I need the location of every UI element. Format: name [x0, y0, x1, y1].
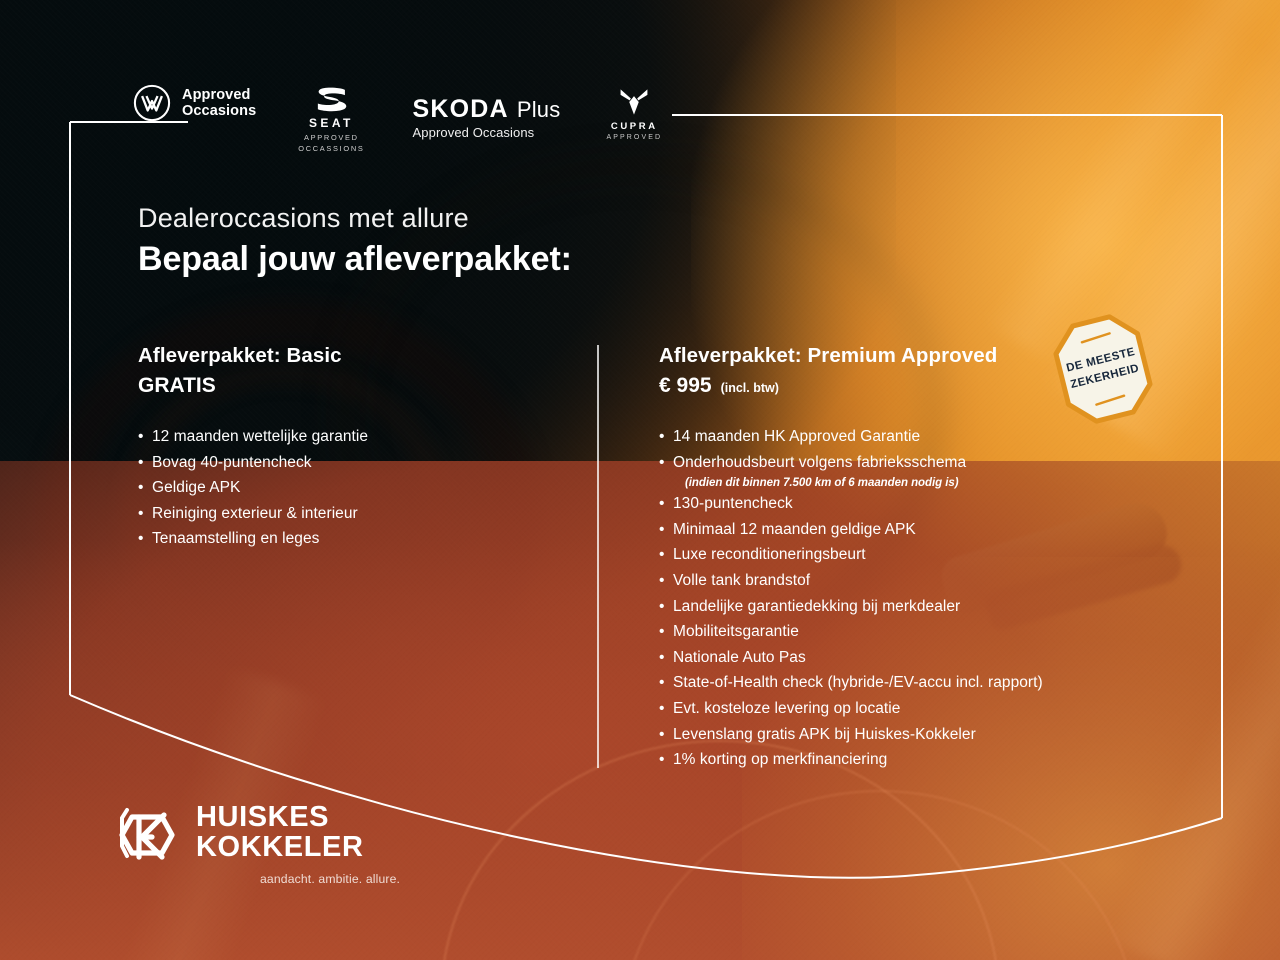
feature-text: 14 maanden HK Approved Garantie: [673, 428, 920, 445]
skoda-logo-plus: Plus: [517, 97, 561, 123]
feature-text: Luxe reconditioneringsbeurt: [673, 546, 866, 563]
bullet-icon: •: [659, 619, 664, 645]
cupra-logo-icon: [618, 87, 650, 117]
feature-text: Levenslang gratis APK bij Huiskes-Kokkel…: [673, 726, 976, 743]
bullet-icon: •: [659, 517, 664, 543]
hk-hexagon-monogram-icon: [112, 800, 176, 870]
dealer-logo: HUISKES KOKKELER aandacht. ambitie. allu…: [112, 800, 400, 886]
feature-text: Onderhoudsbeurt volgens fabrieksschema: [673, 454, 966, 471]
feature-text: Mobiliteitsgarantie: [673, 623, 799, 640]
vw-logo-icon: [133, 84, 171, 122]
feature-text: Evt. kosteloze levering op locatie: [673, 700, 900, 717]
bullet-icon: •: [659, 542, 664, 568]
feature-text: Bovag 40-puntencheck: [152, 454, 312, 471]
vw-logo-text: Approved Occasions: [182, 87, 256, 119]
bullet-icon: •: [138, 475, 143, 501]
skoda-logo-top: SKODA Plus: [413, 95, 561, 124]
list-item: •Landelijke garantiedekking bij merkdeal…: [659, 594, 1159, 620]
bullet-icon: •: [138, 450, 143, 476]
package-feature-list-premium: •14 maanden HK Approved Garantie •Onderh…: [659, 424, 1159, 773]
list-item: •State-of-Health check (hybride-/EV-accu…: [659, 670, 1159, 696]
seat-logo-word: SEAT: [309, 116, 354, 130]
bullet-icon: •: [659, 594, 664, 620]
dealer-name-line2: KOKKELER: [196, 833, 400, 863]
list-item: •Minimaal 12 maanden geldige APK: [659, 517, 1159, 543]
bullet-icon: •: [659, 645, 664, 671]
feature-text: State-of-Health check (hybride-/EV-accu …: [673, 674, 1043, 691]
bullet-icon: •: [659, 696, 664, 722]
feature-text: Geldige APK: [152, 479, 240, 496]
bullet-icon: •: [138, 424, 143, 450]
package-feature-list-basic: •12 maanden wettelijke garantie •Bovag 4…: [138, 424, 568, 552]
feature-text: Volle tank brandstof: [673, 572, 810, 589]
feature-text: Minimaal 12 maanden geldige APK: [673, 521, 916, 538]
page-title: Bepaal jouw afleverpakket:: [138, 240, 572, 279]
feature-text: 1% korting op merkfinanciering: [673, 751, 887, 768]
vw-logo-line1: Approved: [182, 87, 256, 103]
list-item: •Levenslang gratis APK bij Huiskes-Kokke…: [659, 722, 1159, 748]
package-price-note-premium: (incl. btw): [721, 381, 779, 395]
list-item: •Geldige APK: [138, 475, 568, 501]
package-price-value-premium: € 995: [659, 374, 712, 398]
package-title-basic: Afleverpakket: Basic: [138, 344, 568, 368]
logo-seat-approved-occassions: SEAT APPROVED OCCASSIONS: [298, 84, 364, 154]
bullet-icon: •: [659, 450, 664, 476]
list-item: •130-puntencheck: [659, 491, 1159, 517]
bullet-icon: •: [659, 568, 664, 594]
bullet-icon: •: [659, 670, 664, 696]
logo-skoda-plus-approved-occasions: SKODA Plus Approved Occasions: [413, 84, 561, 140]
feature-text: 12 maanden wettelijke garantie: [152, 428, 368, 445]
seat-logo-sub1: APPROVED: [298, 133, 364, 144]
package-card-basic: Afleverpakket: Basic GRATIS •12 maanden …: [138, 344, 568, 552]
bullet-icon: •: [659, 722, 664, 748]
list-item: •Luxe reconditioneringsbeurt: [659, 542, 1159, 568]
seat-logo-icon: [314, 86, 348, 113]
feature-text: Tenaamstelling en leges: [152, 530, 319, 547]
cupra-logo-sub: APPROVED: [606, 134, 662, 141]
feature-text: Reiniging exterieur & interieur: [152, 505, 358, 522]
list-item: •12 maanden wettelijke garantie: [138, 424, 568, 450]
seat-logo-sub: APPROVED OCCASSIONS: [298, 133, 364, 154]
vw-logo-line2: Occasions: [182, 103, 256, 119]
bullet-icon: •: [659, 747, 664, 773]
dealer-name-line1: HUISKES: [196, 803, 400, 833]
feature-text: Landelijke garantiedekking bij merkdeale…: [673, 598, 960, 615]
feature-note: (indien dit binnen 7.500 km of 6 maanden…: [673, 475, 1159, 491]
seat-logo-sub2: OCCASSIONS: [298, 144, 364, 155]
package-price-basic: GRATIS: [138, 374, 568, 398]
list-item: •Onderhoudsbeurt volgens fabrieksschema(…: [659, 450, 1159, 492]
status-badge-most-certainty: DE MEESTE ZEKERHEID: [1048, 312, 1158, 426]
list-item: •Tenaamstelling en leges: [138, 526, 568, 552]
list-item: •Mobiliteitsgarantie: [659, 619, 1159, 645]
brand-logo-row: Approved Occasions SEAT APPROVED OCCASSI…: [133, 84, 662, 160]
skoda-logo-word: SKODA: [413, 95, 509, 124]
list-item: •Nationale Auto Pas: [659, 645, 1159, 671]
list-item: •Bovag 40-puntencheck: [138, 450, 568, 476]
bullet-icon: •: [138, 526, 143, 552]
list-item: •Evt. kosteloze levering op locatie: [659, 696, 1159, 722]
logo-cupra-approved: CUPRA APPROVED: [606, 84, 662, 141]
bullet-icon: •: [138, 501, 143, 527]
kicker-text: Dealeroccasions met allure: [138, 203, 469, 234]
dealer-logo-text: HUISKES KOKKELER aandacht. ambitie. allu…: [196, 800, 400, 886]
cupra-logo-word: CUPRA: [611, 121, 658, 132]
list-item: •1% korting op merkfinanciering: [659, 747, 1159, 773]
dealer-tagline: aandacht. ambitie. allure.: [260, 872, 400, 886]
package-price-value-basic: GRATIS: [138, 374, 216, 398]
list-item: •Volle tank brandstof: [659, 568, 1159, 594]
feature-text: Nationale Auto Pas: [673, 649, 806, 666]
list-item: •Reiniging exterieur & interieur: [138, 501, 568, 527]
feature-text: 130-puntencheck: [673, 495, 793, 512]
bullet-icon: •: [659, 491, 664, 517]
logo-volkswagen-approved-occasions: Approved Occasions: [133, 84, 256, 122]
bullet-icon: •: [659, 424, 664, 450]
skoda-logo-sub: Approved Occasions: [413, 125, 535, 140]
